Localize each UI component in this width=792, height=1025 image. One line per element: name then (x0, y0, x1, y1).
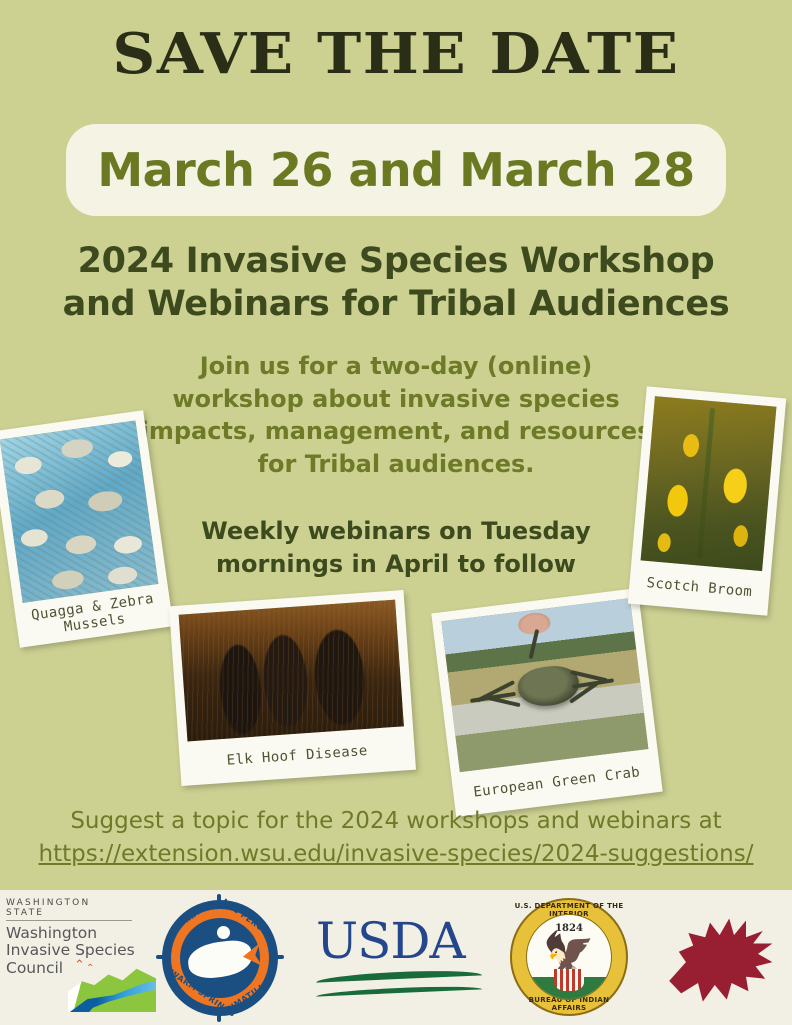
bird-icon: ⌃ (86, 964, 94, 974)
wsu-cougar-logo (662, 906, 782, 1010)
sponsor-logo-strip: WASHINGTON STATE Washington Invasive Spe… (0, 890, 792, 1025)
weekly-webinars-note: Weekly webinars on Tuesday mornings in A… (146, 515, 646, 580)
photo-card-scotch-broom: Scotch Broom (628, 386, 786, 615)
swoosh-line-2 (316, 984, 482, 996)
scotch-broom-photo (641, 396, 777, 571)
workshop-title-line-2: and Webinars for Tribal Audiences (0, 283, 792, 326)
photo-card-mussels: Quagga & Zebra Mussels (0, 410, 173, 647)
usda-swoosh-icon (316, 970, 482, 1000)
elk-hoof-image (179, 600, 404, 742)
critfc-logo: YAKAMA NEZ PERCE WARM SPRINGS UMATILLA (158, 896, 282, 1020)
workshop-title: 2024 Invasive Species Workshop and Webin… (0, 240, 792, 325)
green-crab-photo (441, 598, 648, 772)
workshop-title-line-1: 2024 Invasive Species Workshop (0, 240, 792, 283)
date-pill: March 26 and March 28 (66, 124, 726, 216)
photo-card-elk-hoof: Elk Hoof Disease (169, 590, 416, 786)
plant-stem-shape (697, 408, 715, 560)
cougar-icon (662, 906, 782, 1010)
mussels-image (0, 420, 158, 602)
bird-icon: ⌃ (74, 958, 85, 971)
bia-inner-disc: 1824 🦅 (526, 914, 612, 1000)
wisc-landscape-icon: ⌃ ⌃ (68, 958, 156, 1012)
shield-icon (554, 969, 584, 991)
bia-logo: U.S. DEPARTMENT OF THE INTERIOR BUREAU O… (510, 898, 628, 1016)
green-crab-image (441, 598, 648, 772)
moon-icon (217, 926, 230, 939)
suggest-topic-text: Suggest a topic for the 2024 workshops a… (0, 808, 792, 834)
poster-canvas: SAVE THE DATE March 26 and March 28 2024… (0, 0, 792, 1025)
salmon-icon (186, 938, 254, 981)
photo-card-green-crab: European Green Crab (431, 588, 662, 817)
date-pill-label: March 26 and March 28 (97, 143, 694, 197)
usda-logo: USDA (316, 916, 482, 1002)
wisc-logo: WASHINGTON STATE Washington Invasive Spe… (6, 898, 156, 1013)
mussels-photo (0, 420, 158, 602)
wisc-name-line-1: Washington (6, 921, 156, 942)
usda-wordmark: USDA (316, 916, 482, 966)
page-title: SAVE THE DATE (0, 26, 792, 82)
elk-hoof-photo (179, 600, 404, 742)
intro-paragraph: Join us for a two-day (online) workshop … (130, 350, 662, 481)
suggestions-link[interactable]: https://extension.wsu.edu/invasive-speci… (0, 841, 792, 867)
scotch-broom-image (641, 396, 777, 571)
wisc-kicker-text: WASHINGTON STATE (6, 898, 132, 921)
swoosh-line-1 (316, 968, 482, 982)
